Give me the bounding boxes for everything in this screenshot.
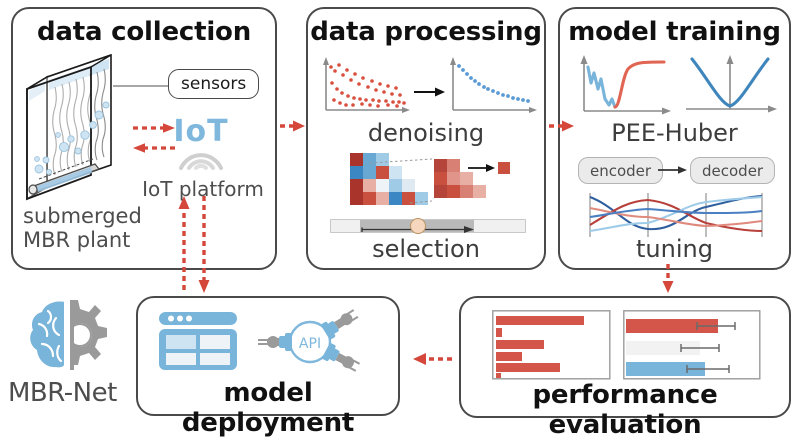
api-label: API (299, 336, 321, 352)
chart-feature-selection-heatmap (348, 151, 513, 213)
plug-lower-right (322, 343, 362, 376)
noisy-points (329, 63, 406, 108)
panel-title-data-collection: data collection (13, 17, 275, 47)
arrow-collection-to-processing (280, 121, 305, 132)
plant-caption-line1: submerged (23, 205, 142, 229)
chart-huber-loss (680, 53, 780, 119)
panel-data-processing: data processing (306, 7, 546, 270)
selection-slider[interactable] (330, 219, 526, 233)
api-integration-icon: API (254, 308, 382, 374)
loss-caption: PEE-Huber (560, 119, 789, 147)
panel-data-collection: data collection (11, 7, 277, 270)
panel-model-deployment: API (136, 296, 400, 416)
chart-hyperparameter-tuning (586, 191, 766, 239)
submerged-mbr-plant-illustration (19, 47, 149, 202)
encoder-decoder-arrow (658, 164, 688, 176)
chart-loss-convergence (574, 53, 674, 119)
selected-feature-cell (498, 162, 510, 174)
panel-title-model-training: model training (560, 17, 789, 47)
chart-feature-importance (492, 310, 611, 380)
brand-name: MBR-Net (8, 378, 117, 408)
gear-half-icon (64, 300, 107, 370)
heatmap-cells (350, 153, 428, 205)
tuning-caption: tuning (560, 235, 789, 263)
plant-caption: submerged MBR plant (23, 205, 142, 252)
arrow-evaluation-to-deployment (413, 353, 452, 365)
denoising-caption: denoising (308, 119, 544, 147)
slider-thumb[interactable] (410, 218, 426, 234)
plant-iot-exchange-arrows (131, 121, 177, 157)
panel-title-performance-evaluation: performance evaluation (461, 380, 789, 440)
brain-half-icon (30, 301, 65, 367)
selection-caption: selection (308, 235, 544, 263)
iot-platform-caption: IoT platform (133, 177, 273, 201)
denoised-points (457, 64, 530, 103)
sensors-label: sensors (181, 74, 246, 94)
figure-canvas: data collection (0, 0, 800, 429)
panel-title-model-deployment: model deployment (138, 378, 398, 438)
panel-model-training: model training PEE-Huber encoder (558, 7, 791, 270)
encoder-label: encoder (590, 162, 651, 180)
panel-title-data-processing: data processing (308, 17, 544, 47)
mbr-net-brain-gear-logo (18, 298, 118, 372)
dashboard-window-icon (157, 310, 239, 372)
heatmap-zoom-cells (434, 159, 486, 198)
decoder-label: decoder (702, 162, 763, 180)
encoder-box[interactable]: encoder (578, 157, 663, 184)
sensors-label-pill[interactable]: sensors (168, 69, 259, 99)
decoder-box[interactable]: decoder (690, 157, 775, 184)
chart-model-comparison (623, 310, 761, 380)
chart-denoising-noisy (318, 55, 413, 117)
sensors-leader-line (113, 79, 173, 93)
chart-denoising-clean (445, 55, 540, 117)
denoising-transform-arrow (414, 85, 446, 99)
plant-caption-line2: MBR plant (23, 229, 142, 253)
wifi-waves-icon (173, 142, 229, 172)
plug-left (258, 333, 292, 351)
panel-performance-evaluation: performance evaluation (459, 296, 791, 418)
